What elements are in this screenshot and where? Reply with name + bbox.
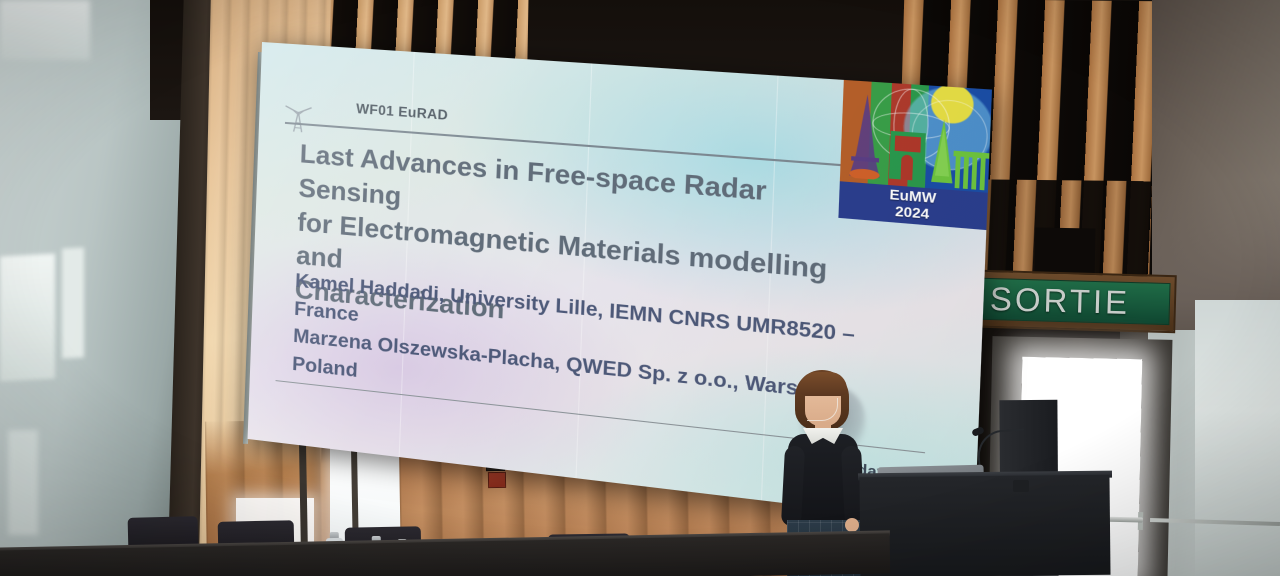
eumw-logo: EuMW 2024 bbox=[838, 80, 992, 230]
fire-alarm-icon[interactable] bbox=[488, 472, 506, 488]
podium bbox=[859, 475, 1110, 576]
presenter-arm-left bbox=[781, 446, 805, 527]
exit-sign-label: SORTIE bbox=[989, 280, 1130, 322]
slat-wall-gap bbox=[1035, 227, 1096, 274]
left-wall-window-reflection bbox=[0, 254, 55, 382]
left-wall-light-patch bbox=[0, 0, 90, 60]
left-wall-window-reflection-2 bbox=[62, 247, 84, 358]
right-pale-wall bbox=[1195, 300, 1280, 576]
presenter-fringe bbox=[799, 372, 847, 396]
presenter-hand bbox=[845, 518, 859, 532]
eumw-logo-artwork bbox=[840, 80, 992, 195]
eiffel-tower-icon bbox=[281, 98, 316, 135]
eumw-logo-year: 2024 bbox=[895, 204, 930, 223]
microphone-base bbox=[1013, 480, 1029, 492]
conference-room-scene: SORTIE WF01 bbox=[0, 0, 1280, 576]
slide-eyebrow: WF01 EuRAD bbox=[356, 101, 448, 123]
left-wall-window-reflection-3 bbox=[8, 430, 38, 535]
